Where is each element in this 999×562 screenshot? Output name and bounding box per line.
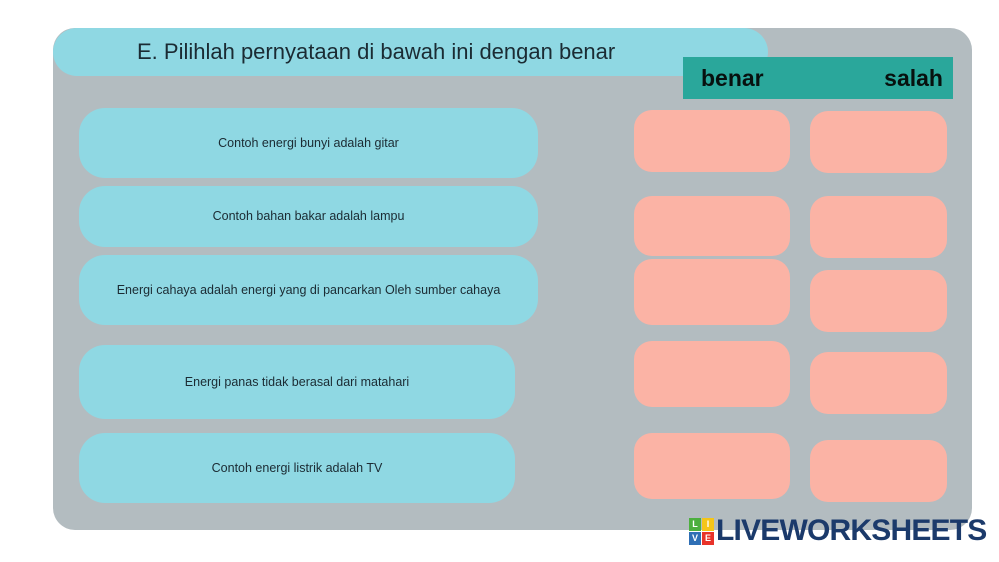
answer-box-salah-row-4[interactable] (810, 352, 947, 414)
answer-box-salah-row-5[interactable] (810, 440, 947, 502)
logo-wordmark: LIVEWORKSHEETS (716, 516, 987, 546)
worksheet-title-pill: E. Pilihlah pernyataan di bawah ini deng… (53, 28, 768, 76)
answer-box-benar-row-4[interactable] (634, 341, 790, 407)
statement-row-4: Energi panas tidak berasal dari matahari (79, 345, 515, 419)
answer-box-salah-row-1[interactable] (810, 111, 947, 173)
answer-box-salah-row-3[interactable] (810, 270, 947, 332)
page-title: E. Pilihlah pernyataan di bawah ini deng… (53, 41, 615, 63)
answer-column-header: benar salah (683, 57, 953, 99)
column-header-salah: salah (884, 65, 943, 92)
statement-text: Energi panas tidak berasal dari matahari (169, 375, 425, 390)
statement-row-1: Contoh energi bunyi adalah gitar (79, 108, 538, 178)
logo-tile-i: I (702, 518, 714, 531)
answer-box-benar-row-1[interactable] (634, 110, 790, 172)
statement-row-5: Contoh energi listrik adalah TV (79, 433, 515, 503)
statement-text: Contoh bahan bakar adalah lampu (197, 209, 421, 224)
logo-tiles: L I V E (689, 518, 714, 545)
answer-box-benar-row-2[interactable] (634, 196, 790, 256)
statement-text: Energi cahaya adalah energi yang di panc… (101, 283, 517, 298)
answer-box-benar-row-5[interactable] (634, 433, 790, 499)
logo-tile-e: E (702, 532, 714, 545)
statement-text: Contoh energi listrik adalah TV (196, 461, 399, 476)
logo-tile-l: L (689, 518, 701, 531)
statement-text: Contoh energi bunyi adalah gitar (202, 136, 415, 151)
answer-box-salah-row-2[interactable] (810, 196, 947, 258)
liveworksheets-logo[interactable]: L I V E LIVEWORKSHEETS (689, 516, 987, 546)
statement-row-3: Energi cahaya adalah energi yang di panc… (79, 255, 538, 325)
logo-tile-v: V (689, 532, 701, 545)
column-header-benar: benar (701, 65, 764, 92)
answer-box-benar-row-3[interactable] (634, 259, 790, 325)
statement-row-2: Contoh bahan bakar adalah lampu (79, 186, 538, 247)
